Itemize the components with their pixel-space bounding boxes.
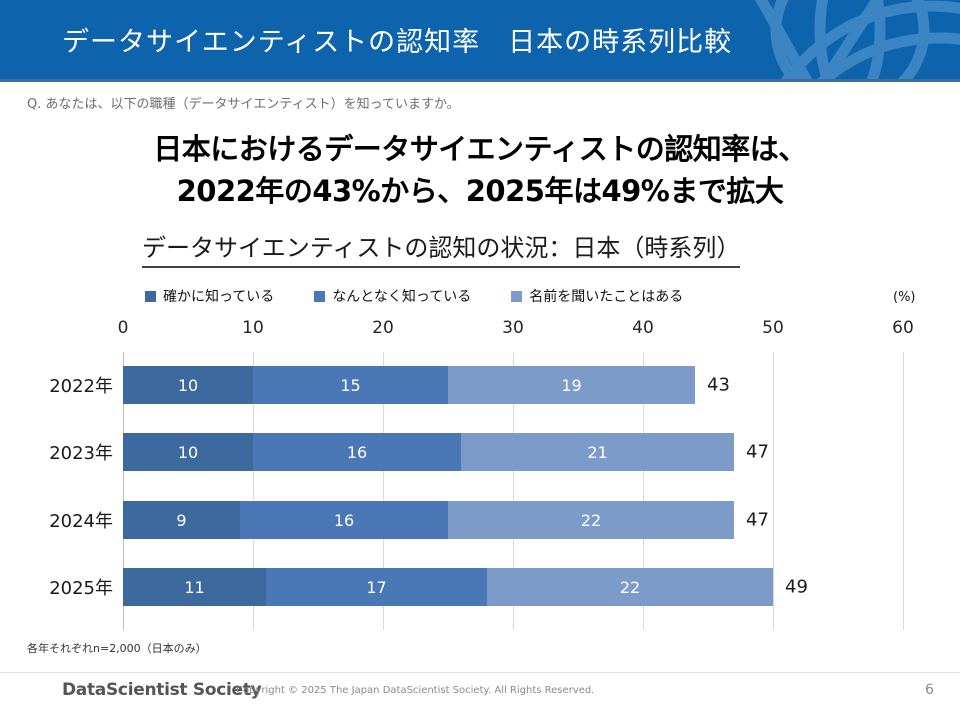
legend-item[interactable]: 名前を聞いたことはある xyxy=(511,286,683,306)
gridline xyxy=(903,352,904,630)
legend-label: 確かに知っている xyxy=(163,286,274,306)
bar-segment: 22 xyxy=(487,568,773,606)
bar-total-label: 49 xyxy=(785,577,808,598)
chart-bar-row: 2024年9162247 xyxy=(123,501,903,539)
x-axis: 0102030405060 xyxy=(0,318,960,340)
bar-total-label: 47 xyxy=(746,442,769,463)
category-label: 2025年 xyxy=(49,574,113,600)
footer-copyright: Copyright © 2025 The Japan DataScientist… xyxy=(236,685,594,696)
legend-label: なんとなく知っている xyxy=(332,286,471,306)
bar-segment: 21 xyxy=(461,433,734,471)
category-label: 2022年 xyxy=(49,372,113,398)
x-axis-tick-label: 30 xyxy=(502,318,524,338)
question-text: Q. あなたは、以下の職種（データサイエンティスト）を知っていますか。 xyxy=(27,93,460,112)
footer-logo: DataScientist Society xyxy=(62,680,261,700)
x-axis-tick-label: 20 xyxy=(372,318,394,338)
category-label: 2023年 xyxy=(49,439,113,465)
bar-segment: 16 xyxy=(240,501,448,539)
bar-segment: 16 xyxy=(253,433,461,471)
legend-item[interactable]: 確かに知っている xyxy=(145,286,274,306)
chart-legend: 確かに知っているなんとなく知っている名前を聞いたことはある xyxy=(145,286,805,306)
bar-total-label: 43 xyxy=(707,375,730,396)
bar-segment: 9 xyxy=(123,501,240,539)
x-axis-tick-label: 0 xyxy=(118,318,129,338)
page-header: データサイエンティストの認知率 日本の時系列比較 xyxy=(0,0,960,79)
x-axis-tick-label: 60 xyxy=(892,318,914,338)
footer-divider xyxy=(0,672,960,673)
legend-label: 名前を聞いたことはある xyxy=(529,286,683,306)
page-title: データサイエンティストの認知率 日本の時系列比較 xyxy=(62,20,732,59)
chart-bar-row: 2025年11172249 xyxy=(123,568,903,606)
legend-swatch-icon xyxy=(511,291,522,302)
bar-segment: 19 xyxy=(448,366,695,404)
legend-swatch-icon xyxy=(145,291,156,302)
x-axis-tick-label: 10 xyxy=(242,318,264,338)
page-number: 6 xyxy=(925,682,934,698)
axis-unit-label: (%) xyxy=(893,290,916,305)
footnote: 各年それぞれn=2,000（日本のみ） xyxy=(27,640,207,656)
bar-segment: 15 xyxy=(253,366,448,404)
headline-line-2: 2022年の43%から、2025年は49%まで拡大 xyxy=(0,170,960,212)
headline: 日本におけるデータサイエンティストの認知率は、 2022年の43%から、2025… xyxy=(0,128,960,212)
bar-segment: 22 xyxy=(448,501,734,539)
chart-bar-row: 2022年10151943 xyxy=(123,366,903,404)
legend-swatch-icon xyxy=(314,291,325,302)
chart-title: データサイエンティストの認知の状況：日本（時系列） xyxy=(142,228,740,268)
bar-segment: 10 xyxy=(123,366,253,404)
chart-plot-area: 2022年101519432023年101621472024年916224720… xyxy=(123,352,903,630)
legend-item[interactable]: なんとなく知っている xyxy=(314,286,471,306)
header-divider xyxy=(0,79,960,82)
headline-line-1: 日本におけるデータサイエンティストの認知率は、 xyxy=(0,128,960,170)
x-axis-tick-label: 40 xyxy=(632,318,654,338)
bar-segment: 11 xyxy=(123,568,266,606)
bar-segment: 17 xyxy=(266,568,487,606)
bar-segment: 10 xyxy=(123,433,253,471)
category-label: 2024年 xyxy=(49,507,113,533)
bar-total-label: 47 xyxy=(746,510,769,531)
chart-bar-row: 2023年10162147 xyxy=(123,433,903,471)
x-axis-tick-label: 50 xyxy=(762,318,784,338)
